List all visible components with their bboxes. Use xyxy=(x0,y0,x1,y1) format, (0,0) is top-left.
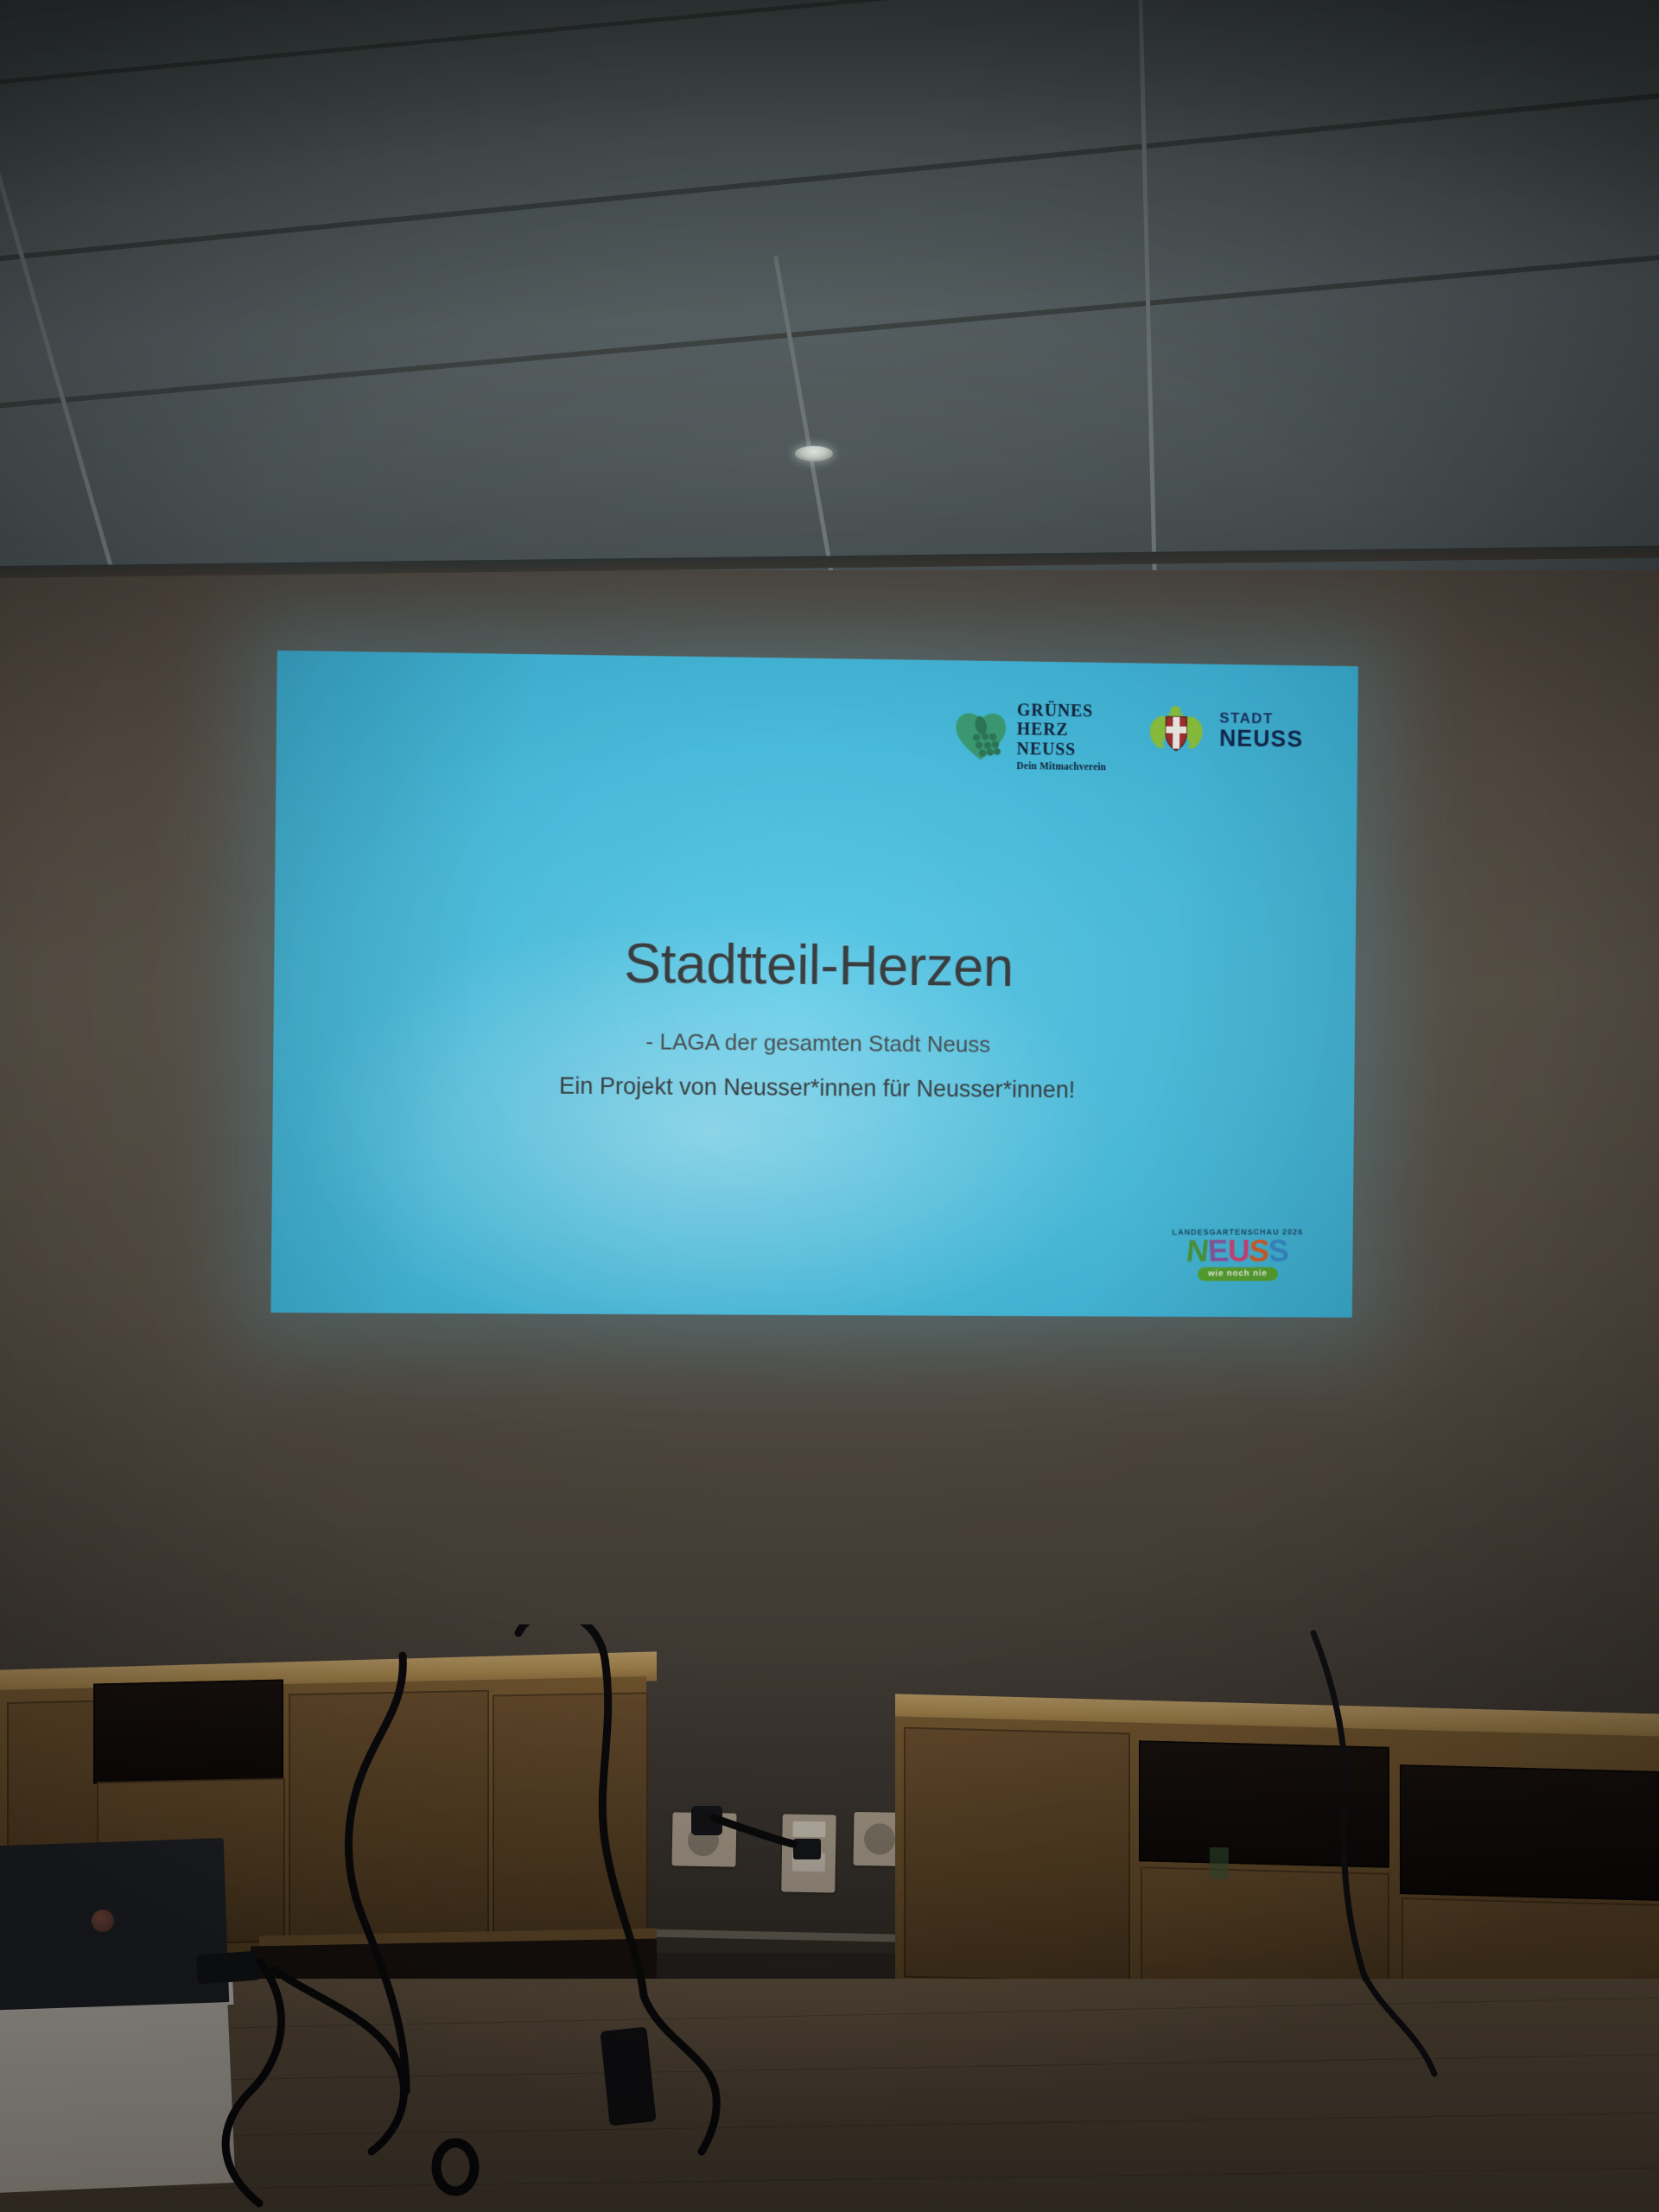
laptop-power-adapter xyxy=(600,2026,656,2126)
ghn-line-2: HERZ xyxy=(1017,721,1107,741)
laga-letter: U xyxy=(1228,1238,1249,1264)
ceiling-grid-line xyxy=(1138,0,1158,605)
gruenes-herz-text: GRÜNES HERZ NEUSS Dein Mitmachverein xyxy=(1016,701,1107,773)
slide-subtitle-1: - LAGA der gesamten Stadt Neuss xyxy=(273,1025,1355,1061)
laga-letter: S xyxy=(1268,1238,1289,1264)
laga-banner-text: wie noch nie xyxy=(1198,1267,1277,1281)
stadt-line-1: STADT xyxy=(1219,710,1303,726)
stadt-neuss-text: STADT NEUSS xyxy=(1219,710,1304,751)
slide-title: Stadtteil-Herzen xyxy=(274,927,1356,1001)
ghn-line-1: GRÜNES xyxy=(1017,701,1107,721)
ceiling-grid-line xyxy=(0,245,1659,411)
neuss-coat-of-arms-icon xyxy=(1144,702,1210,757)
power-cables xyxy=(0,1624,1659,2212)
recessed-spotlight-icon xyxy=(795,446,833,461)
projection-screen: GRÜNES HERZ NEUSS Dein Mitmachverein xyxy=(270,651,1358,1318)
stadt-line-2: NEUSS xyxy=(1219,727,1303,751)
laga-letter: N xyxy=(1185,1238,1210,1265)
ghn-tagline: Dein Mitmachverein xyxy=(1016,761,1106,773)
presentation-slide: GRÜNES HERZ NEUSS Dein Mitmachverein xyxy=(270,651,1358,1318)
ceiling-grid-line xyxy=(0,82,1659,264)
green-heart-icon xyxy=(954,710,1007,763)
ghn-line-3: NEUSS xyxy=(1017,740,1107,760)
laga-letter: E xyxy=(1208,1238,1230,1264)
gruenes-herz-neuss-logo: GRÜNES HERZ NEUSS Dein Mitmachverein xyxy=(954,700,1107,773)
ceiling-grid-line xyxy=(0,0,1659,87)
slide-logo-row: GRÜNES HERZ NEUSS Dein Mitmachverein xyxy=(954,700,1304,776)
ceiling-grid-line xyxy=(0,0,129,605)
laga-letter: S xyxy=(1249,1238,1270,1264)
ceiling xyxy=(0,0,1659,605)
ceiling-grid-line xyxy=(773,256,842,605)
slide-subtitle-2: Ein Projekt von Neusser*innen für Neusse… xyxy=(273,1071,1355,1106)
laga-wordmark: NEUSS xyxy=(1173,1238,1304,1265)
stadt-neuss-logo: STADT NEUSS xyxy=(1144,702,1304,758)
landesgartenschau-logo: LANDESGARTENSCHAU 2026 NEUSS wie noch ni… xyxy=(1173,1228,1304,1281)
room-photo-scene: GRÜNES HERZ NEUSS Dein Mitmachverein xyxy=(0,0,1659,2212)
